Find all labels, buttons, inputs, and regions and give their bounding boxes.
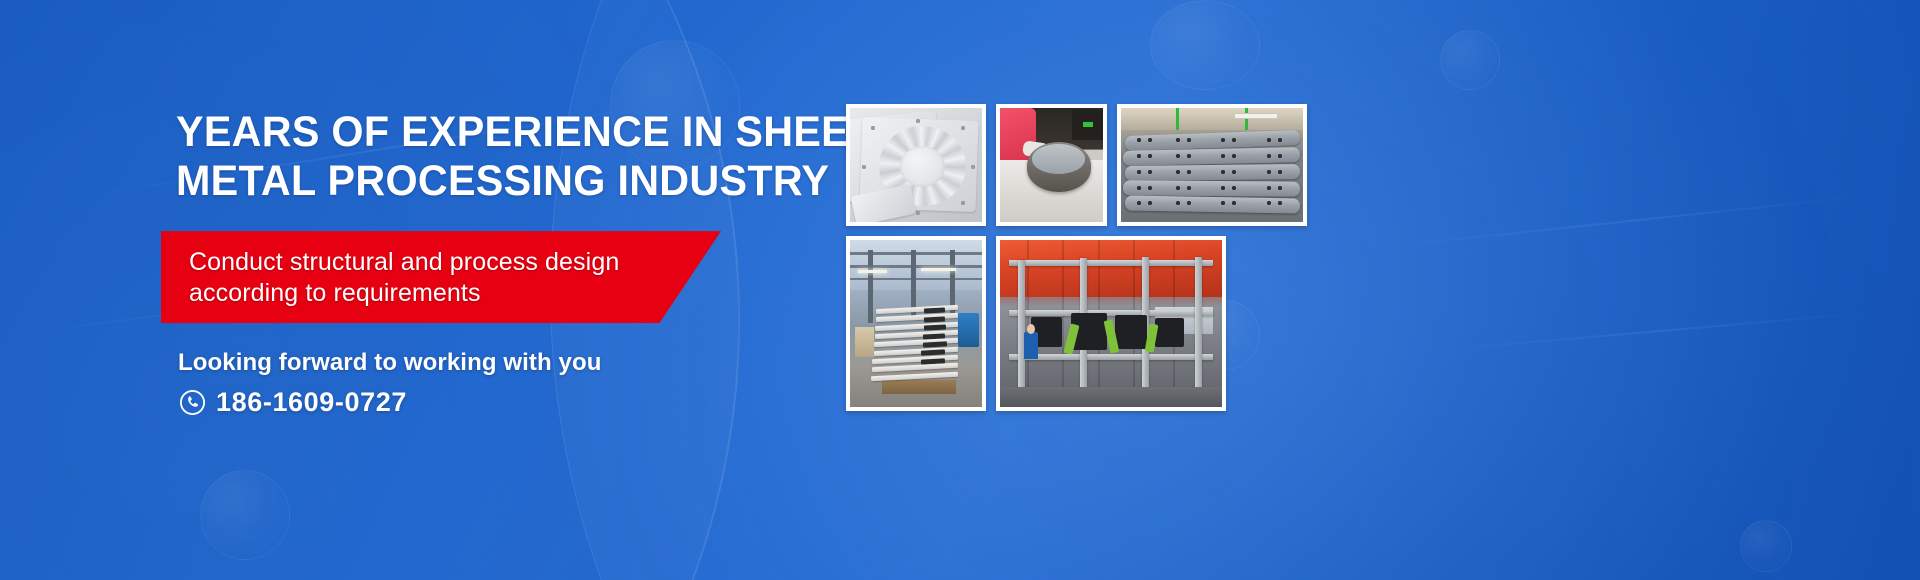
callout-banner: Conduct structural and process design ac… xyxy=(161,231,721,323)
headline-line-2: METAL PROCESSING INDUSTRY xyxy=(176,157,848,206)
photo-scene-workshop-canopy xyxy=(1000,240,1222,407)
phone-circle-icon xyxy=(179,389,206,416)
background-bubble xyxy=(200,470,290,560)
photo-scene-drilled-steel-plates xyxy=(1121,108,1303,222)
photo-scene-laser-cut-plates xyxy=(850,108,982,222)
phone-number: 186-1609-0727 xyxy=(216,387,407,418)
callout-line-1: Conduct structural and process design xyxy=(189,247,695,278)
gallery-bottom-row xyxy=(846,236,1307,411)
gallery-photo-fan-plates[interactable] xyxy=(846,104,986,226)
photo-scene-warehouse-panels xyxy=(850,240,982,407)
phone-contact[interactable]: 186-1609-0727 xyxy=(179,387,876,418)
gallery-photo-steel-plates[interactable] xyxy=(1117,104,1307,226)
background-streak xyxy=(1381,194,1878,248)
promo-banner: YEARS OF EXPERIENCE IN SHEET METAL PROCE… xyxy=(0,0,1920,580)
background-bubble xyxy=(1440,30,1500,90)
gallery-photo-warehouse-pallet[interactable] xyxy=(846,236,986,411)
gallery-photo-metal-shroud[interactable] xyxy=(996,104,1107,226)
background-bubble xyxy=(1150,0,1260,90)
callout-line-2: according to requirements xyxy=(189,278,695,309)
page-title: YEARS OF EXPERIENCE IN SHEET METAL PROCE… xyxy=(176,108,848,205)
gallery-top-row xyxy=(846,104,1307,226)
tagline: Looking forward to working with you xyxy=(178,349,876,377)
photo-gallery xyxy=(846,104,1307,411)
photo-scene-worker-shroud xyxy=(1000,108,1103,222)
headline-line-1: YEARS OF EXPERIENCE IN SHEET xyxy=(176,108,848,157)
banner-text-column: YEARS OF EXPERIENCE IN SHEET METAL PROCE… xyxy=(176,108,876,418)
background-streak xyxy=(1441,311,1880,351)
background-bubble xyxy=(1740,520,1792,572)
gallery-photo-workshop-racking[interactable] xyxy=(996,236,1226,411)
